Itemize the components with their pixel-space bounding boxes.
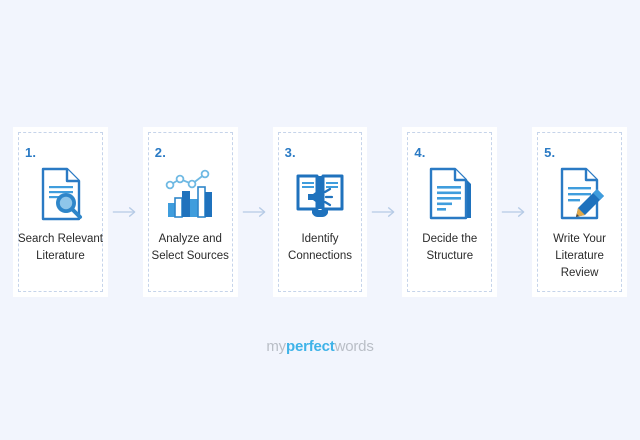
document-magnifier-icon: [13, 163, 108, 225]
step-number-3: 3.: [285, 145, 296, 160]
step-card-1[interactable]: 1. Search Relevant Literature: [13, 127, 108, 297]
step-number-4: 4.: [414, 145, 425, 160]
brand-logo[interactable]: myperfectwords: [0, 338, 640, 355]
logo-text-words: words: [335, 338, 374, 355]
stacked-documents-icon: [402, 163, 497, 225]
step-label-3: Identify Connections: [277, 231, 364, 265]
step-card-2[interactable]: 2. Analyze and Select Sources: [143, 127, 238, 297]
step-label-2: Analyze and Select Sources: [147, 231, 234, 265]
open-book-megaphone-icon: [273, 163, 368, 225]
step-label-5: Write Your Literature Review: [536, 231, 623, 282]
arrow-4-to-5: [501, 127, 528, 297]
step-card-5[interactable]: 5. Write Your Literature Review: [532, 127, 627, 297]
arrow-1-to-2: [112, 127, 139, 297]
arrow-3-to-4: [371, 127, 398, 297]
literature-review-steps-infographic: 1. Search Relevant Literature: [0, 0, 640, 440]
document-pencil-icon: [532, 163, 627, 225]
logo-text-perfect: perfect: [286, 338, 335, 355]
step-card-3[interactable]: 3. Identify Connections: [273, 127, 368, 297]
step-label-4: Decide the Structure: [406, 231, 493, 265]
logo-text-my: my: [266, 338, 286, 355]
step-label-1: Search Relevant Literature: [17, 231, 104, 265]
step-number-1: 1.: [25, 145, 36, 160]
bar-chart-line-icon: [143, 163, 238, 225]
step-number-2: 2.: [155, 145, 166, 160]
arrow-2-to-3: [242, 127, 269, 297]
step-number-5: 5.: [544, 145, 555, 160]
steps-row: 1. Search Relevant Literature: [0, 127, 640, 297]
step-card-4[interactable]: 4. Decide the Structure: [402, 127, 497, 297]
